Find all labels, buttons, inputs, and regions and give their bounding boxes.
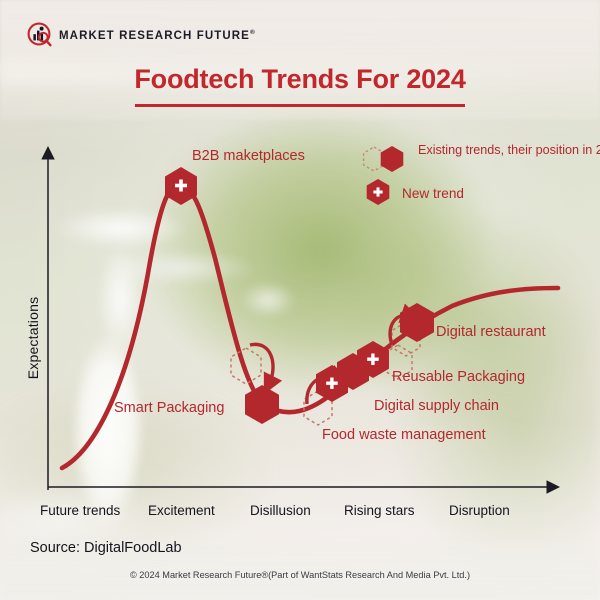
- legend-item-new: New trend: [360, 178, 600, 208]
- registered-mark: ®: [250, 29, 256, 36]
- legend-label-existing: Existing trends, their position in 2022 …: [418, 143, 600, 158]
- market-research-future-logo-icon: [27, 22, 53, 48]
- hexagon-dashed-plus-solid-pair-icon: [360, 144, 416, 178]
- chart-label-digital-restaurant: Digital restaurant: [436, 324, 546, 340]
- chart-label-reusable-packaging: Reusable Packaging: [392, 369, 525, 385]
- logo: MARKET RESEARCH FUTURE®: [27, 22, 256, 48]
- legend-label-new: New trend: [402, 186, 464, 201]
- copyright-note: © 2024 Market Research Future®(Part of W…: [0, 570, 600, 580]
- x-tick-future-trends: Future trends: [40, 503, 120, 518]
- background-top-fade: [0, 0, 600, 120]
- logo-wordmark: MARKET RESEARCH FUTURE®: [59, 29, 256, 42]
- x-tick-excitement: Excitement: [148, 503, 215, 518]
- y-axis-label: Expectations: [25, 283, 41, 393]
- x-tick-disruption: Disruption: [449, 503, 510, 518]
- hexagon-plus-icon: [360, 178, 400, 210]
- legend-item-existing: Existing trends, their position in 2022 …: [360, 144, 600, 178]
- chart-label-digital-supply-chain: Digital supply chain: [374, 398, 499, 414]
- page-title: Foodtech Trends For 2024: [0, 64, 600, 95]
- chart-label-b2b-marketplaces: B2B maketplaces: [192, 148, 305, 164]
- legend: Existing trends, their position in 2022 …: [360, 144, 600, 208]
- infographic-canvas: MARKET RESEARCH FUTURE® Foodtech Trends …: [0, 0, 600, 600]
- x-tick-rising-stars: Rising stars: [344, 503, 415, 518]
- x-tick-disillusion: Disillusion: [250, 503, 311, 518]
- title-underline: [135, 104, 465, 107]
- chart-label-smart-packaging: Smart Packaging: [114, 400, 224, 416]
- chart-label-food-waste-management: Food waste management: [322, 427, 486, 443]
- source-note: Source: DigitalFoodLab: [30, 540, 182, 556]
